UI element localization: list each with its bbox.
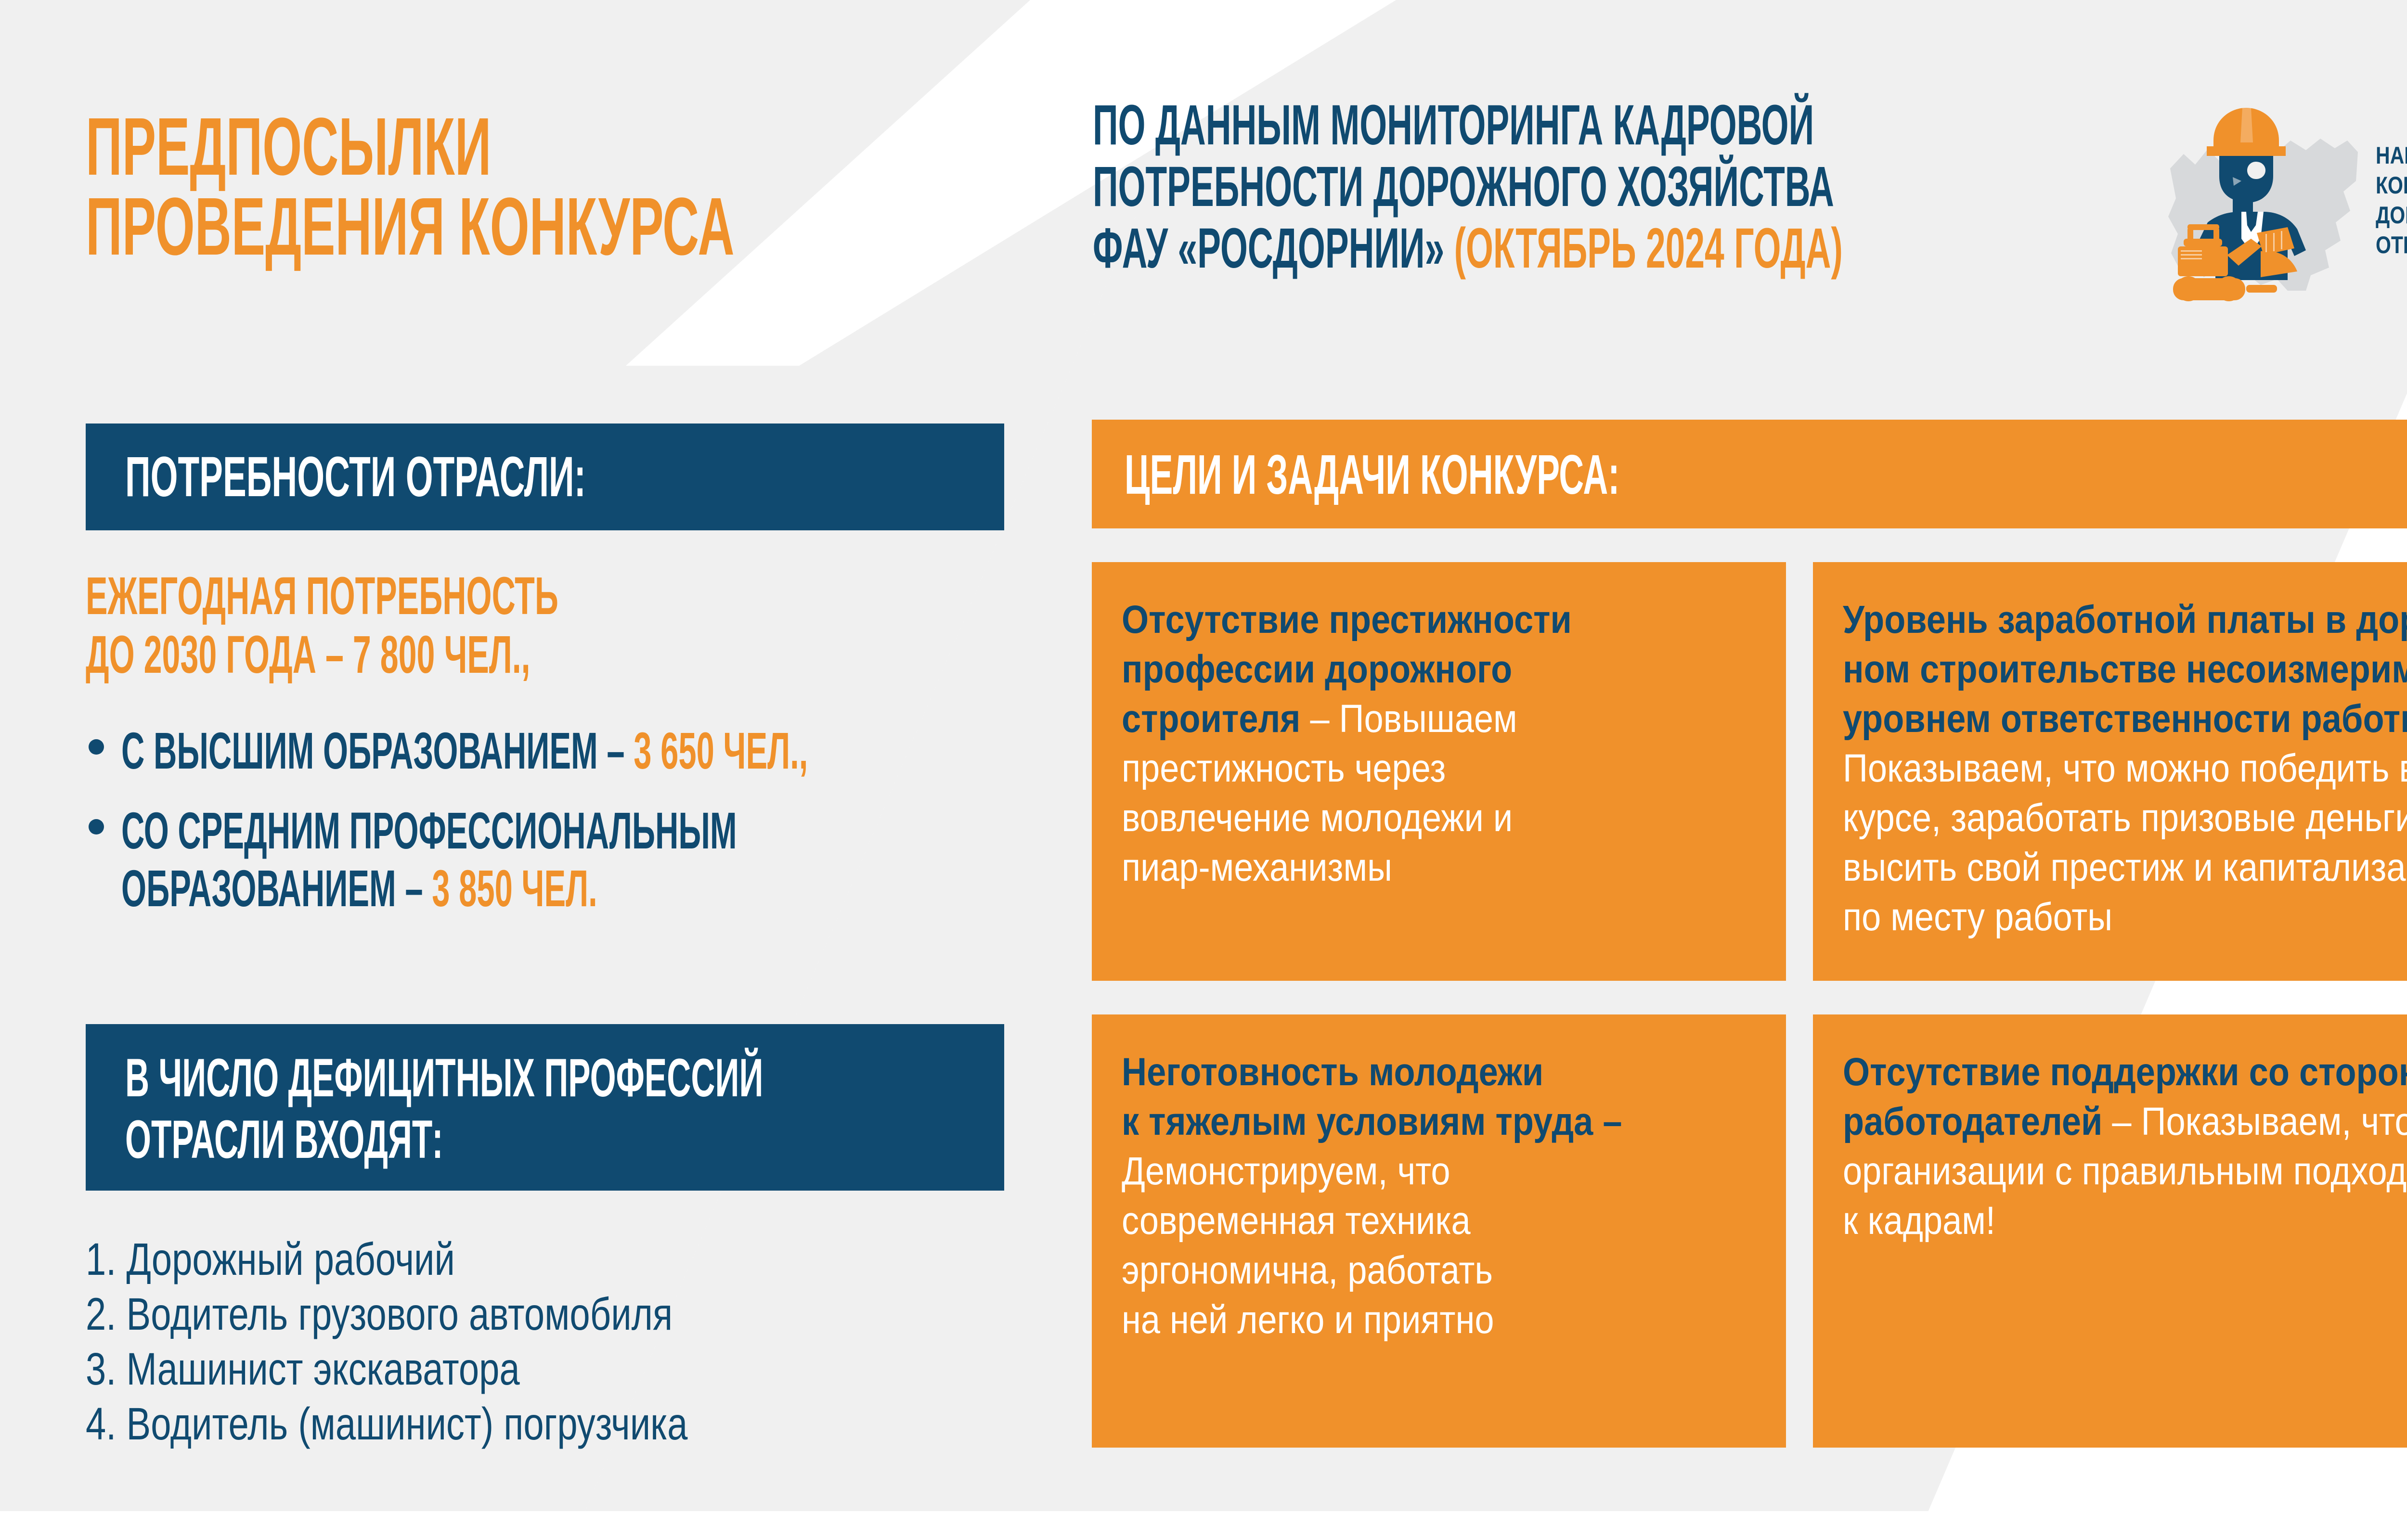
goal-card-line: работодателей – Показываем, что есть <box>1843 1097 2407 1146</box>
goal-card-line: современная техника <box>1122 1196 1680 1245</box>
annual-need-line-1: ЕЖЕГОДНАЯ ПОТРЕБНОСТЬ <box>86 567 558 626</box>
list-item: СО СРЕДНИМ ПРОФЕССИОНАЛЬНЫМ ОБРАЗОВАНИЕМ… <box>86 802 1024 917</box>
logo-line-3: ДОРОЖНО-СТРОИТЕЛЬНОЙ <box>2376 200 2407 230</box>
goal-card-bold: работодателей <box>1843 1100 2102 1143</box>
deficit-header-line-1: В ЧИСЛО ДЕФИЦИТНЫХ ПРОФЕССИЙ <box>125 1047 650 1109</box>
bullet-line: С ВЫСШИМ ОБРАЗОВАНИЕМ – 3 650 ЧЕЛ., <box>121 722 681 780</box>
deficit-header-text: В ЧИСЛО ДЕФИЦИТНЫХ ПРОФЕССИЙ ОТРАСЛИ ВХО… <box>125 1047 972 1170</box>
goal-card-bold: строителя <box>1122 697 1300 741</box>
competition-logo: НАЦИОНАЛЬНЫЙ КОНКУРС МЕХАНИЗАТОРОВ ДОРОЖ… <box>2161 96 2407 313</box>
worker-excavator-icon <box>2161 96 2368 313</box>
goal-card-rest: курсе, заработать призовые деньги, по- <box>1843 796 2407 840</box>
goal-card-line: ном строительстве несоизмерим с <box>1843 644 2407 694</box>
goal-card-line: по месту работы <box>1843 892 2407 942</box>
goal-card-bold: уровнем ответственности работы – <box>1843 697 2407 741</box>
goal-card-bold: Уровень заработной платы в дорож- <box>1843 598 2407 642</box>
goal-card-line: пиар-механизмы <box>1122 843 1680 892</box>
list-item: 1. Дорожный рабочий <box>86 1232 687 1287</box>
needs-header-label: ПОТРЕБНОСТИ ОТРАСЛИ: <box>125 449 586 505</box>
bullet-line: ОБРАЗОВАНИЕМ – 3 850 ЧЕЛ. <box>121 860 681 917</box>
goal-card: Уровень заработной платы в дорож- ном ст… <box>1813 562 2407 981</box>
goal-card-line: Демонстрируем, что <box>1122 1146 1680 1196</box>
goal-card-line: престижность через <box>1122 744 1680 793</box>
goal-card-line: Отсутствие престижности <box>1122 595 1680 644</box>
goals-header-banner: ЦЕЛИ И ЗАДАЧИ КОНКУРСА: <box>1092 420 2407 528</box>
bullet-text: СО СРЕДНИМ ПРОФЕССИОНАЛЬНЫМ <box>121 801 737 860</box>
needs-header-banner: ПОТРЕБНОСТИ ОТРАСЛИ: <box>86 423 1004 530</box>
goal-card-line: к тяжелым условиям труда – <box>1122 1097 1680 1146</box>
bullet-text: С ВЫСШИМ ОБРАЗОВАНИЕМ – <box>121 721 634 780</box>
list-item: 3. Машинист экскаватора <box>86 1342 687 1397</box>
header-subtitle-date: (ОКТЯБРЬ 2024 ГОДА) <box>1454 217 1843 280</box>
goal-card-rest: – Показываем, что есть <box>2102 1100 2407 1143</box>
goal-card-rest: пиар-механизмы <box>1122 846 1392 889</box>
goal-card-rest: высить свой престиж и капитализацию <box>1843 846 2407 889</box>
goal-card-rest: престижность через <box>1122 746 1446 790</box>
education-bullets: С ВЫСШИМ ОБРАЗОВАНИЕМ – 3 650 ЧЕЛ., СО С… <box>86 722 1024 939</box>
header-subtitle-org: ФАУ «РОСДОРНИИ» <box>1093 217 1454 280</box>
logo-line-4: ОТРАСЛИ <box>2376 230 2407 260</box>
goal-card-line: эргономична, работать <box>1122 1245 1680 1295</box>
bullet-dot-icon <box>89 819 104 834</box>
goal-card-bold: ном строительстве несоизмерим с <box>1843 647 2407 691</box>
list-item: С ВЫСШИМ ОБРАЗОВАНИЕМ – 3 650 ЧЕЛ., <box>86 722 1024 780</box>
goal-card-bold: Отсутствие поддержки со стороны <box>1843 1050 2407 1094</box>
goal-card-bold: профессии дорожного <box>1122 647 1512 691</box>
goal-card-line: строителя – Повышаем <box>1122 694 1680 744</box>
goal-card-line: уровнем ответственности работы – <box>1843 694 2407 744</box>
goal-card-line: Показываем, что можно победить в кон- <box>1843 744 2407 793</box>
goal-card-rest: организации с правильным подходом <box>1843 1149 2407 1193</box>
annual-need-block: ЕЖЕГОДНАЯ ПОТРЕБНОСТЬ ДО 2030 ГОДА – 7 8… <box>86 567 848 684</box>
list-item: 2. Водитель грузового автомобиля <box>86 1287 687 1342</box>
goal-card-rest: вовлечение молодежи и <box>1122 796 1513 840</box>
goal-card-rest: современная техника <box>1122 1199 1471 1243</box>
goal-card-line: Уровень заработной платы в дорож- <box>1843 595 2407 644</box>
annual-need-line-2: ДО 2030 ГОДА – 7 800 ЧЕЛ., <box>86 626 558 684</box>
goal-card-line: организации с правильным подходом <box>1843 1146 2407 1196</box>
deficit-header-line-2: ОТРАСЛИ ВХОДЯТ: <box>125 1109 650 1170</box>
bullet-value: 3 850 ЧЕЛ. <box>432 859 597 917</box>
goal-card-rest: Показываем, что можно победить в кон- <box>1843 746 2407 790</box>
goal-card-line: Неготовность молодежи <box>1122 1047 1680 1097</box>
goal-card-rest: к кадрам! <box>1843 1199 1995 1243</box>
goal-card-line: Отсутствие поддержки со стороны <box>1843 1047 2407 1097</box>
goal-card-rest: эргономична, работать <box>1122 1248 1493 1292</box>
goal-card-line: к кадрам! <box>1843 1196 2407 1245</box>
goal-card-rest: Демонстрируем, что <box>1122 1149 1450 1193</box>
bullet-body: С ВЫСШИМ ОБРАЗОВАНИЕМ – 3 650 ЧЕЛ., <box>86 722 1024 780</box>
slide-canvas: ПРЕДПОСЫЛКИ ПРОВЕДЕНИЯ КОНКУРСА ПО ДАННЫ… <box>0 0 2407 1540</box>
goal-card: Отсутствие престижности профессии дорожн… <box>1092 562 1786 981</box>
goal-card-line: на ней легко и приятно <box>1122 1295 1680 1345</box>
bullet-dot-icon <box>89 739 104 755</box>
goal-card-rest: на ней легко и приятно <box>1122 1298 1494 1342</box>
logo-line-1: НАЦИОНАЛЬНЫЙ <box>2376 141 2407 170</box>
header-subtitle: ПО ДАННЫМ МОНИТОРИНГА КАДРОВОЙ ПОТРЕБНОС… <box>1093 94 2303 279</box>
deficit-header-banner: В ЧИСЛО ДЕФИЦИТНЫХ ПРОФЕССИЙ ОТРАСЛИ ВХО… <box>86 1024 1004 1191</box>
header-subtitle-line-2: ПОТРЕБНОСТИ ДОРОЖНОГО ХОЗЯЙСТВА <box>1093 156 1843 218</box>
goal-card-line: курсе, заработать призовые деньги, по- <box>1843 793 2407 843</box>
page-title-line-1: ПРЕДПОСЫЛКИ <box>86 107 735 187</box>
logo-wordmark: НАЦИОНАЛЬНЫЙ КОНКУРС МЕХАНИЗАТОРОВ ДОРОЖ… <box>2376 141 2407 260</box>
logo-line-2: КОНКУРС МЕХАНИЗАТОРОВ <box>2376 170 2407 200</box>
goal-card-line: профессии дорожного <box>1122 644 1680 694</box>
goal-card-bold: Отсутствие престижности <box>1122 598 1572 642</box>
page-title-line-2: ПРОВЕДЕНИЯ КОНКУРСА <box>86 187 735 267</box>
goal-card: Отсутствие поддержки со стороны работода… <box>1813 1014 2407 1448</box>
bullet-line: СО СРЕДНИМ ПРОФЕССИОНАЛЬНЫМ <box>121 802 681 860</box>
bullet-text: ОБРАЗОВАНИЕМ – <box>121 859 432 917</box>
list-item: 4. Водитель (машинист) погрузчика <box>86 1397 687 1451</box>
goal-card-rest: – Повышаем <box>1300 697 1517 741</box>
bullet-value: 3 650 ЧЕЛ., <box>634 721 808 780</box>
goals-header-label: ЦЕЛИ И ЗАДАЧИ КОНКУРСА: <box>1125 447 1619 502</box>
goal-card: Неготовность молодежи к тяжелым условиям… <box>1092 1014 1786 1448</box>
goal-card-bold: к тяжелым условиям труда – <box>1122 1100 1622 1143</box>
goal-card-line: вовлечение молодежи и <box>1122 793 1680 843</box>
bullet-body: СО СРЕДНИМ ПРОФЕССИОНАЛЬНЫМ ОБРАЗОВАНИЕМ… <box>86 802 1024 917</box>
header-subtitle-line-1: ПО ДАННЫМ МОНИТОРИНГА КАДРОВОЙ <box>1093 94 1843 156</box>
goal-card-rest: по месту работы <box>1843 895 2112 939</box>
goal-card-line: высить свой престиж и капитализацию <box>1843 843 2407 892</box>
goal-card-bold: Неготовность молодежи <box>1122 1050 1543 1094</box>
page-title: ПРЕДПОСЫЛКИ ПРОВЕДЕНИЯ КОНКУРСА <box>86 107 1132 267</box>
header-subtitle-line-3: ФАУ «РОСДОРНИИ» (ОКТЯБРЬ 2024 ГОДА) <box>1093 218 1843 279</box>
deficit-profession-list: 1. Дорожный рабочий 2. Водитель грузовог… <box>86 1232 838 1451</box>
